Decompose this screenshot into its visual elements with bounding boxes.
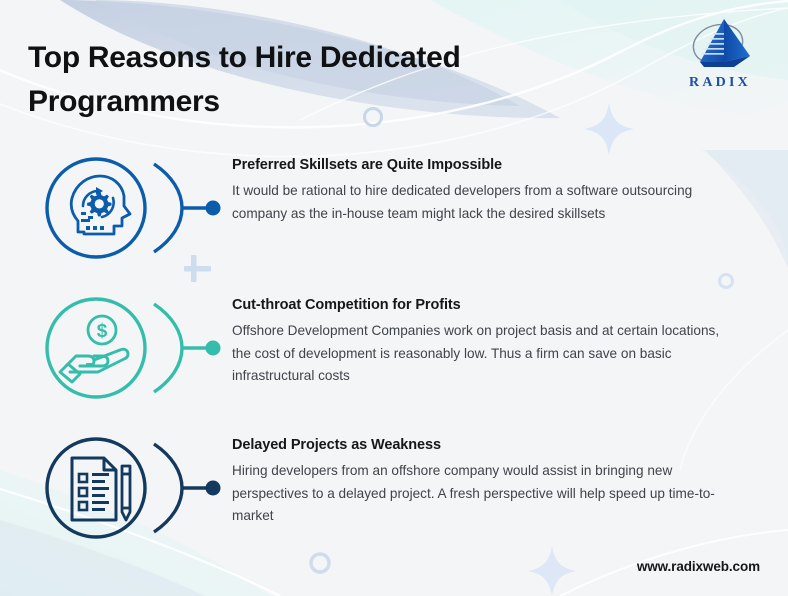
item-icon-wrapper <box>36 148 232 268</box>
header: Top Reasons to Hire Dedicated Programmer… <box>0 0 788 140</box>
list-item: $ Cut-throat Competition for Profits Off… <box>0 288 788 428</box>
footer: www.radixweb.com <box>637 558 760 576</box>
item-body: Delayed Projects as Weakness Hiring deve… <box>232 428 788 528</box>
icon-arc <box>154 304 182 392</box>
list-item: Delayed Projects as Weakness Hiring deve… <box>0 428 788 568</box>
item-icon-wrapper: $ <box>36 288 232 408</box>
icon-arc <box>154 164 182 252</box>
item-description: Offshore Development Companies work on p… <box>232 320 732 388</box>
head-dots <box>86 226 104 230</box>
text-lines <box>92 473 109 511</box>
item-title: Cut-throat Competition for Profits <box>232 297 744 313</box>
icon-connector-dot <box>206 341 221 356</box>
gear-icon <box>87 192 111 216</box>
icon-ring <box>47 299 145 397</box>
icon-connector-dot <box>206 201 221 216</box>
page-title: Top Reasons to Hire Dedicated Programmer… <box>28 36 588 124</box>
hand-shape <box>60 349 128 382</box>
infographic-canvas: Top Reasons to Hire Dedicated Programmer… <box>0 0 788 596</box>
checkbox-rows <box>79 474 87 510</box>
item-body: Cut-throat Competition for Profits Offsh… <box>232 288 788 388</box>
list-item: Preferred Skillsets are Quite Impossible… <box>0 148 788 288</box>
item-title: Delayed Projects as Weakness <box>232 437 744 453</box>
hand-detail <box>86 363 92 365</box>
head-gear-icon <box>36 148 232 268</box>
icon-connector-dot <box>206 481 221 496</box>
website-url[interactable]: www.radixweb.com <box>637 559 760 574</box>
gear-dashes <box>81 212 93 222</box>
reason-list: Preferred Skillsets are Quite Impossible… <box>0 148 788 568</box>
brand-logo[interactable]: RADIX <box>674 14 766 96</box>
item-icon-wrapper <box>36 428 232 548</box>
dollar-sign: $ <box>97 321 108 342</box>
item-body: Preferred Skillsets are Quite Impossible… <box>232 148 788 225</box>
hand-holding-dollar-icon: $ <box>36 288 232 408</box>
logo-pyramid-right <box>724 19 750 62</box>
pencil-shape <box>122 466 130 520</box>
logo-wordmark: RADIX <box>674 75 766 91</box>
item-description: Hiring developers from an offshore compa… <box>232 460 732 528</box>
icon-arc <box>154 444 182 532</box>
item-description: It would be rational to hire dedicated d… <box>232 180 732 225</box>
radix-pyramid-logo-icon <box>674 14 766 74</box>
checklist-pencil-icon <box>36 428 232 548</box>
item-title: Preferred Skillsets are Quite Impossible <box>232 157 744 173</box>
